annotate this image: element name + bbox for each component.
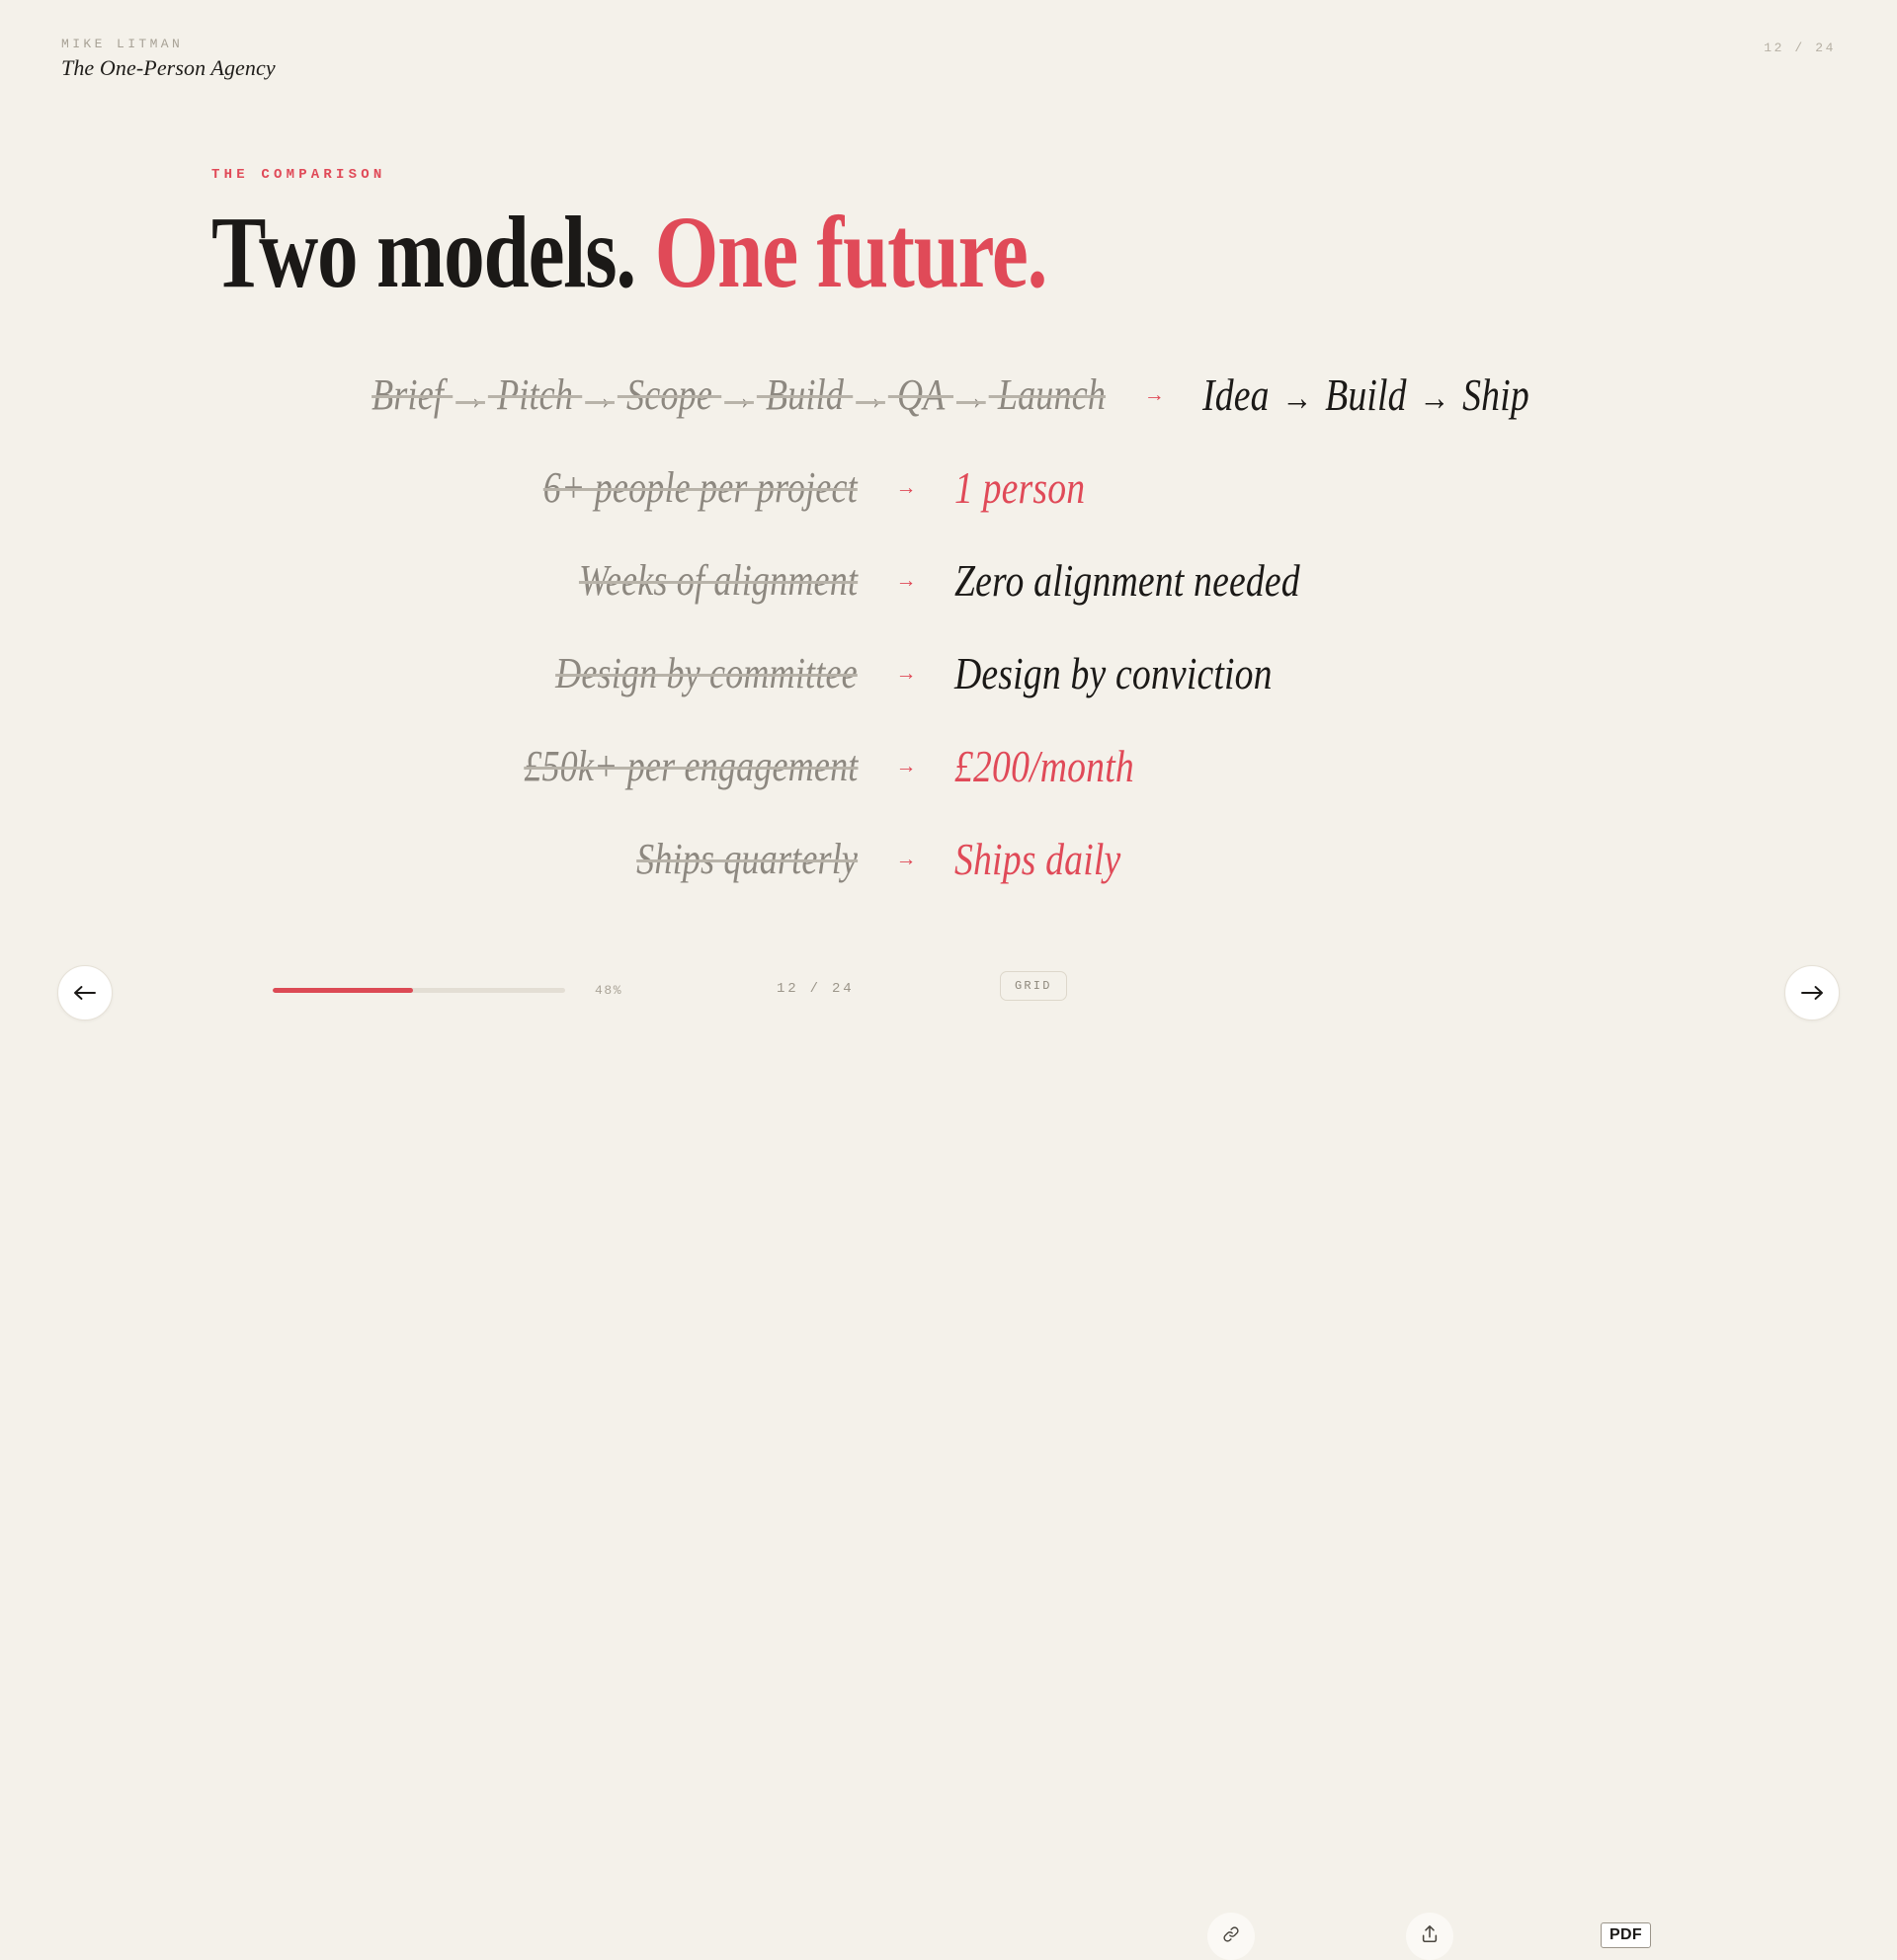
comparison-old-side: Weeks of alignment — [211, 555, 883, 606]
comparison-old-text: Design by committee — [555, 648, 858, 698]
comparison-row: £50k+ per engagement → £200/month — [211, 720, 1601, 813]
comparison-arrow-icon: → — [883, 570, 929, 591]
comparison-new-side: Idea → Build → Ship — [1177, 368, 1602, 421]
brand-name: MIKE LITMAN — [61, 38, 276, 50]
arrow-left-icon — [73, 985, 97, 1001]
progress-indicator: 48% — [273, 984, 622, 997]
flow-arrow-icon: → — [1417, 376, 1453, 418]
share-icon — [1420, 1923, 1440, 1949]
flow-arrow-icon: → — [953, 376, 989, 417]
arrow-right-icon — [1800, 985, 1824, 1001]
progress-label: 48% — [595, 984, 622, 997]
comparison-row: Design by committee → Design by convicti… — [211, 627, 1601, 720]
headline-primary: Two models. — [211, 196, 635, 309]
deck-title: The One-Person Agency — [61, 56, 276, 80]
export-pdf-button[interactable]: PDF — [1601, 1922, 1651, 1948]
comparison-old-text: Ships quarterly — [636, 834, 858, 884]
page-title: Two models. One future. — [211, 204, 1465, 303]
flow-arrow-icon: → — [453, 376, 488, 417]
comparison-old-side: Brief → Pitch → Scope → Build → QA → Lau… — [210, 369, 1131, 420]
comparison-new-text: £200/month — [954, 740, 1134, 792]
section-eyebrow: THE COMPARISON — [211, 168, 1778, 182]
presentation-slide: MIKE LITMAN The One-Person Agency 12 / 2… — [0, 0, 1897, 1067]
comparison-old-text: Brief → Pitch → Scope → Build → QA → Lau… — [371, 369, 1106, 420]
comparison-arrow-icon: → — [1131, 384, 1177, 405]
comparison-new-side: Ships daily — [929, 833, 1601, 885]
flow-arrow-icon: → — [721, 376, 757, 417]
flow-arrow-icon: → — [1279, 376, 1316, 418]
comparison-new-side: Zero alignment needed — [929, 554, 1601, 607]
comparison-new-text: Idea → Build → Ship — [1202, 368, 1529, 421]
copy-link-button[interactable] — [1207, 1913, 1255, 1960]
brand-block: MIKE LITMAN The One-Person Agency — [61, 38, 276, 80]
headline-accent: One future. — [655, 196, 1047, 309]
comparison-row: Weeks of alignment → Zero alignment need… — [211, 534, 1601, 627]
grid-view-button[interactable]: GRID — [1000, 971, 1067, 1001]
prev-slide-button[interactable] — [57, 965, 113, 1021]
toolbar-page-counter: 12 / 24 — [777, 982, 854, 996]
comparison-arrow-icon: → — [883, 849, 929, 869]
comparison-new-text: 1 person — [954, 461, 1085, 514]
header-page-counter: 12 / 24 — [1764, 38, 1836, 54]
comparison-row: 6+ people per project → 1 person — [211, 442, 1601, 534]
slide-toolbar: 48% 12 / 24 GRID PDF — [0, 919, 1897, 1067]
comparison-old-side: Ships quarterly — [211, 834, 883, 884]
flow-arrow-icon: → — [582, 376, 618, 417]
comparison-list: Brief → Pitch → Scope → Build → QA → Lau… — [211, 349, 1778, 906]
comparison-old-side: £50k+ per engagement — [211, 741, 883, 791]
comparison-old-text: Weeks of alignment — [579, 555, 858, 606]
slide-header: MIKE LITMAN The One-Person Agency 12 / 2… — [61, 38, 1836, 80]
next-slide-button[interactable] — [1784, 965, 1840, 1021]
link-icon — [1221, 1924, 1241, 1949]
comparison-new-side: 1 person — [929, 461, 1601, 514]
comparison-old-text: 6+ people per project — [543, 462, 858, 513]
comparison-new-text: Ships daily — [954, 833, 1120, 885]
slide-main: THE COMPARISON Two models. One future. B… — [211, 168, 1778, 906]
comparison-new-text: Design by conviction — [954, 647, 1273, 699]
comparison-new-side: £200/month — [929, 740, 1601, 792]
comparison-old-text: £50k+ per engagement — [524, 741, 858, 791]
comparison-old-side: 6+ people per project — [211, 462, 883, 513]
comparison-new-text: Zero alignment needed — [954, 554, 1300, 607]
comparison-new-side: Design by conviction — [929, 647, 1601, 699]
comparison-row: Ships quarterly → Ships daily — [211, 813, 1601, 906]
comparison-row: Brief → Pitch → Scope → Build → QA → Lau… — [211, 349, 1601, 442]
progress-fill — [273, 988, 413, 993]
progress-track[interactable] — [273, 988, 565, 993]
share-button[interactable] — [1406, 1913, 1453, 1960]
comparison-old-side: Design by committee — [211, 648, 883, 698]
flow-arrow-icon: → — [853, 376, 888, 417]
comparison-arrow-icon: → — [883, 756, 929, 776]
comparison-arrow-icon: → — [883, 477, 929, 498]
comparison-arrow-icon: → — [883, 663, 929, 684]
